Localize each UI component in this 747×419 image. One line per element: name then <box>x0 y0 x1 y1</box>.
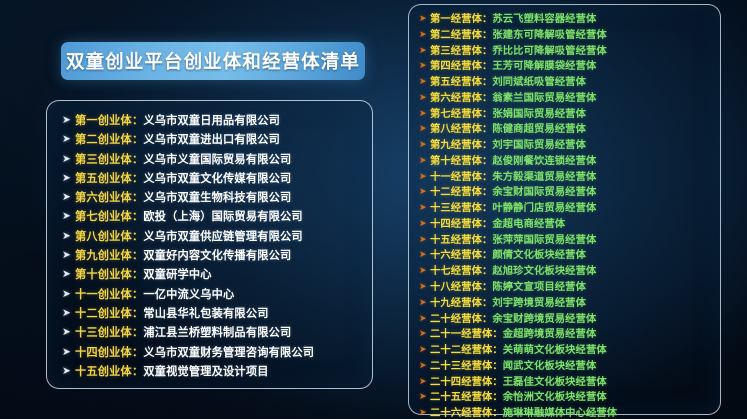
startup-entity-item: ➤第五创业体：义乌市双童文化传媒有限公司 <box>62 170 372 189</box>
startup-entity-value: 欧投（上海）国际贸易有限公司 <box>143 208 302 224</box>
startup-entity-item: ➤第一创业体：义乌市双童日用品有限公司 <box>62 112 372 131</box>
chevron-right-icon: ➤ <box>419 297 430 308</box>
business-entity-item: ➤第三经营体：乔比比可降解吸管经营体 <box>419 42 720 58</box>
startup-entity-value: 义乌市双童供应链管理有限公司 <box>143 228 302 244</box>
page-title: 双童创业平台创业体和经营体清单 <box>66 48 360 74</box>
business-entity-value: 陈健商超贸易经营体 <box>492 120 586 135</box>
business-entity-label: 二十六经营体： <box>430 404 503 419</box>
business-entity-label: 十六经营体： <box>430 246 492 261</box>
chevron-right-icon: ➤ <box>419 265 430 276</box>
startup-entity-label: 第三创业体： <box>75 151 143 167</box>
startup-entity-item: ➤第六创业体：义乌市双童生物科技有限公司 <box>62 189 372 208</box>
chevron-right-icon: ➤ <box>419 202 430 213</box>
startup-entity-label: 第十创业体： <box>75 266 143 282</box>
startup-entity-item: ➤第三创业体：义乌市义童国际贸易有限公司 <box>62 151 372 170</box>
chevron-right-icon: ➤ <box>419 123 430 134</box>
business-entity-value: 闻武文化板块经营体 <box>503 357 597 372</box>
business-entity-label: 十七经营体： <box>430 262 492 277</box>
chevron-right-icon: ➤ <box>419 45 430 56</box>
startup-entity-label: 十一创业体： <box>75 286 143 302</box>
business-entity-value: 赵俊刚餐饮连锁经营体 <box>492 152 596 167</box>
business-entity-value: 余宝财国际贸易经营体 <box>492 183 596 198</box>
business-entity-label: 十二经营体： <box>430 183 492 198</box>
business-entities-list: ➤第一经营体：苏云飞塑料容器经营体➤第二经营体：张建东可降解吸管经营体➤第三经营… <box>409 10 720 419</box>
chevron-right-icon: ➤ <box>419 92 430 103</box>
startup-entity-label: 十四创业体： <box>75 344 143 360</box>
business-entity-label: 第十经营体： <box>430 152 492 167</box>
startup-entity-value: 浦江县兰桥塑料制品有限公司 <box>143 324 291 340</box>
business-entity-item: ➤十八经营体：陈婷文宣项目经营体 <box>419 278 720 294</box>
chevron-right-icon: ➤ <box>62 191 75 203</box>
chevron-right-icon: ➤ <box>419 234 430 245</box>
startup-entity-label: 第六创业体： <box>75 189 143 205</box>
startup-entity-label: 第一创业体： <box>75 112 143 128</box>
startup-entity-item: ➤十二创业体：常山县华礼包装有限公司 <box>62 305 372 324</box>
business-entity-value: 刘宇跨境贸易经营体 <box>492 294 586 309</box>
business-entity-item: ➤第六经营体：翁素兰国际贸易经营体 <box>419 89 720 105</box>
business-entity-item: ➤第五经营体：刘同斌纸吸管经营体 <box>419 73 720 89</box>
chevron-right-icon: ➤ <box>62 288 75 300</box>
chevron-right-icon: ➤ <box>419 155 430 166</box>
business-entity-label: 第六经营体： <box>430 89 492 104</box>
slide-title-banner: 双童创业平台创业体和经营体清单 <box>61 42 365 80</box>
business-entity-item: ➤十五经营体：张萍萍国际贸易经营体 <box>419 231 720 247</box>
business-entity-value: 关萌萌文化板块经营体 <box>503 341 607 356</box>
startup-entity-item: ➤第七创业体：欧投（上海）国际贸易有限公司 <box>62 208 372 227</box>
business-entity-value: 余怡洲文化板块经营体 <box>503 388 607 403</box>
business-entity-value: 施琳琳融媒体中心经营体 <box>503 404 617 419</box>
chevron-right-icon: ➤ <box>62 133 75 145</box>
startup-entity-value: 义乌市双童日用品有限公司 <box>143 112 280 128</box>
business-entity-value: 刘宇国际贸易经营体 <box>492 136 586 151</box>
startup-entity-item: ➤十一创业体：一亿中流义乌中心 <box>62 286 372 305</box>
startup-entity-value: 义乌市双童财务管理咨询有限公司 <box>143 344 314 360</box>
business-entity-label: 第九经营体： <box>430 136 492 151</box>
slide-canvas: 双童创业平台创业体和经营体清单 ➤第一创业体：义乌市双童日用品有限公司➤第二创业… <box>0 0 747 419</box>
startup-entity-label: 十二创业体： <box>75 305 143 321</box>
business-entity-label: 十八经营体： <box>430 278 492 293</box>
business-entity-label: 第二经营体： <box>430 26 492 41</box>
business-entity-value: 张萍萍国际贸易经营体 <box>492 231 596 246</box>
chevron-right-icon: ➤ <box>62 268 75 280</box>
startup-entity-item: ➤十五创业体：双童视觉管理及设计项目 <box>62 363 372 382</box>
startup-entity-label: 第二创业体： <box>75 131 143 147</box>
business-entity-label: 十九经营体： <box>430 294 492 309</box>
business-entity-label: 十四经营体： <box>430 215 492 230</box>
business-entity-item: ➤第八经营体：陈健商超贸易经营体 <box>419 120 720 136</box>
business-entity-label: 第八经营体： <box>430 120 492 135</box>
business-entity-item: ➤十七经营体：赵旭珍文化板块经营体 <box>419 262 720 278</box>
startup-entity-value: 义乌市双童进出口有限公司 <box>143 131 280 147</box>
business-entity-item: ➤十六经营体：颜倩文化板块经营体 <box>419 246 720 262</box>
business-entity-value: 赵旭珍文化板块经营体 <box>492 262 596 277</box>
business-entity-item: ➤第七经营体：张娟国际贸易经营体 <box>419 105 720 121</box>
startup-entity-value: 双童好内容文化传播有限公司 <box>143 247 291 263</box>
business-entity-item: ➤二十五经营体：余怡洲文化板块经营体 <box>419 388 720 404</box>
business-entity-label: 十三经营体： <box>430 199 492 214</box>
business-entity-value: 王芳可降解膜袋经营体 <box>492 57 596 72</box>
chevron-right-icon: ➤ <box>62 365 75 377</box>
business-entity-value: 颜倩文化板块经营体 <box>492 246 586 261</box>
business-entity-value: 陈婷文宣项目经营体 <box>492 278 586 293</box>
startup-entity-label: 第七创业体： <box>75 208 143 224</box>
business-entity-value: 张建东可降解吸管经营体 <box>492 26 606 41</box>
chevron-right-icon: ➤ <box>419 313 430 324</box>
business-entity-label: 第四经营体： <box>430 57 492 72</box>
chevron-right-icon: ➤ <box>419 29 430 40</box>
business-entity-item: ➤第二经营体：张建东可降解吸管经营体 <box>419 26 720 42</box>
business-entity-item: ➤二十三经营体：闻武文化板块经营体 <box>419 357 720 373</box>
business-entity-item: ➤二十六经营体：施琳琳融媒体中心经营体 <box>419 404 720 419</box>
chevron-right-icon: ➤ <box>419 328 430 339</box>
chevron-right-icon: ➤ <box>419 281 430 292</box>
chevron-right-icon: ➤ <box>62 249 75 261</box>
business-entity-value: 余宝财跨境贸易经营体 <box>492 310 596 325</box>
chevron-right-icon: ➤ <box>419 171 430 182</box>
business-entity-label: 二十四经营体： <box>430 373 503 388</box>
startup-entity-value: 双童研学中心 <box>143 266 211 282</box>
startup-entity-value: 常山县华礼包装有限公司 <box>143 305 268 321</box>
business-entity-value: 朱方毅渠道贸易经营体 <box>492 168 596 183</box>
business-entity-item: ➤第十经营体：赵俊刚餐饮连锁经营体 <box>419 152 720 168</box>
startup-entity-item: ➤第八创业体：义乌市双童供应链管理有限公司 <box>62 228 372 247</box>
business-entity-item: ➤二十一经营体：金超跨境贸易经营体 <box>419 325 720 341</box>
business-entity-item: ➤第一经营体：苏云飞塑料容器经营体 <box>419 10 720 26</box>
startup-entity-label: 十五创业体： <box>75 363 143 379</box>
chevron-right-icon: ➤ <box>62 210 75 222</box>
business-entity-item: ➤二十四经营体：王磊佳文化板块经营体 <box>419 373 720 389</box>
business-entity-value: 刘同斌纸吸管经营体 <box>492 73 586 88</box>
business-entity-label: 第七经营体： <box>430 105 492 120</box>
chevron-right-icon: ➤ <box>62 114 75 126</box>
business-entity-value: 金超电商经营体 <box>492 215 565 230</box>
business-entity-item: ➤第九经营体：刘宇国际贸易经营体 <box>419 136 720 152</box>
business-entity-value: 苏云飞塑料容器经营体 <box>492 10 596 25</box>
chevron-right-icon: ➤ <box>419 186 430 197</box>
business-entity-item: ➤十九经营体：刘宇跨境贸易经营体 <box>419 294 720 310</box>
business-entity-label: 第三经营体： <box>430 42 492 57</box>
business-entity-value: 金超跨境贸易经营体 <box>503 325 597 340</box>
chevron-right-icon: ➤ <box>62 230 75 242</box>
chevron-right-icon: ➤ <box>62 172 75 184</box>
business-entity-label: 二十经营体： <box>430 310 492 325</box>
chevron-right-icon: ➤ <box>419 108 430 119</box>
chevron-right-icon: ➤ <box>62 346 75 358</box>
business-entity-item: ➤二十经营体：余宝财跨境贸易经营体 <box>419 310 720 326</box>
business-entity-label: 十五经营体： <box>430 231 492 246</box>
business-entity-label: 二十一经营体： <box>430 325 503 340</box>
startup-entity-item: ➤第二创业体：义乌市双童进出口有限公司 <box>62 131 372 150</box>
chevron-right-icon: ➤ <box>419 60 430 71</box>
startup-entity-label: 第八创业体： <box>75 228 143 244</box>
business-entity-label: 二十三经营体： <box>430 357 503 372</box>
startup-entity-item: ➤第十创业体：双童研学中心 <box>62 266 372 285</box>
business-entity-item: ➤十四经营体：金超电商经营体 <box>419 215 720 231</box>
business-entity-value: 乔比比可降解吸管经营体 <box>492 42 606 57</box>
startup-entity-value: 一亿中流义乌中心 <box>143 286 234 302</box>
startup-entity-label: 第九创业体： <box>75 247 143 263</box>
business-entity-value: 翁素兰国际贸易经营体 <box>492 89 596 104</box>
business-entity-label: 十一经营体： <box>430 168 492 183</box>
startup-entity-label: 十三创业体： <box>75 324 143 340</box>
chevron-right-icon: ➤ <box>419 376 430 387</box>
business-entity-label: 二十二经营体： <box>430 341 503 356</box>
business-entity-item: ➤第四经营体：王芳可降解膜袋经营体 <box>419 57 720 73</box>
startup-entity-value: 义乌市双童生物科技有限公司 <box>143 189 291 205</box>
startup-entity-item: ➤十三创业体：浦江县兰桥塑料制品有限公司 <box>62 324 372 343</box>
business-entity-item: ➤十二经营体：余宝财国际贸易经营体 <box>419 183 720 199</box>
chevron-right-icon: ➤ <box>419 391 430 402</box>
business-entity-item: ➤十一经营体：朱方毅渠道贸易经营体 <box>419 168 720 184</box>
chevron-right-icon: ➤ <box>62 326 75 338</box>
business-entities-panel: ➤第一经营体：苏云飞塑料容器经营体➤第二经营体：张建东可降解吸管经营体➤第三经营… <box>408 4 721 415</box>
chevron-right-icon: ➤ <box>419 76 430 87</box>
business-entity-value: 王磊佳文化板块经营体 <box>503 373 607 388</box>
startup-entity-item: ➤第九创业体：双童好内容文化传播有限公司 <box>62 247 372 266</box>
business-entity-value: 张娟国际贸易经营体 <box>492 105 586 120</box>
chevron-right-icon: ➤ <box>419 13 430 24</box>
startup-entity-item: ➤十四创业体：义乌市双童财务管理咨询有限公司 <box>62 344 372 363</box>
startup-entities-panel: ➤第一创业体：义乌市双童日用品有限公司➤第二创业体：义乌市双童进出口有限公司➤第… <box>46 100 373 389</box>
chevron-right-icon: ➤ <box>62 307 75 319</box>
business-entity-label: 第五经营体： <box>430 73 492 88</box>
business-entity-item: ➤十三经营体：叶静静门店贸易经营体 <box>419 199 720 215</box>
startup-entity-value: 义乌市义童国际贸易有限公司 <box>143 151 291 167</box>
startup-entity-value: 义乌市双童文化传媒有限公司 <box>143 170 291 186</box>
startup-entities-list: ➤第一创业体：义乌市双童日用品有限公司➤第二创业体：义乌市双童进出口有限公司➤第… <box>47 112 372 382</box>
business-entity-label: 第一经营体： <box>430 10 492 25</box>
chevron-right-icon: ➤ <box>419 407 430 418</box>
startup-entity-value: 双童视觉管理及设计项目 <box>143 363 268 379</box>
business-entity-value: 叶静静门店贸易经营体 <box>492 199 596 214</box>
business-entity-label: 二十五经营体： <box>430 388 503 403</box>
chevron-right-icon: ➤ <box>419 249 430 260</box>
chevron-right-icon: ➤ <box>419 344 430 355</box>
chevron-right-icon: ➤ <box>62 153 75 165</box>
startup-entity-label: 第五创业体： <box>75 170 143 186</box>
business-entity-item: ➤二十二经营体：关萌萌文化板块经营体 <box>419 341 720 357</box>
chevron-right-icon: ➤ <box>419 360 430 371</box>
chevron-right-icon: ➤ <box>419 218 430 229</box>
chevron-right-icon: ➤ <box>419 139 430 150</box>
